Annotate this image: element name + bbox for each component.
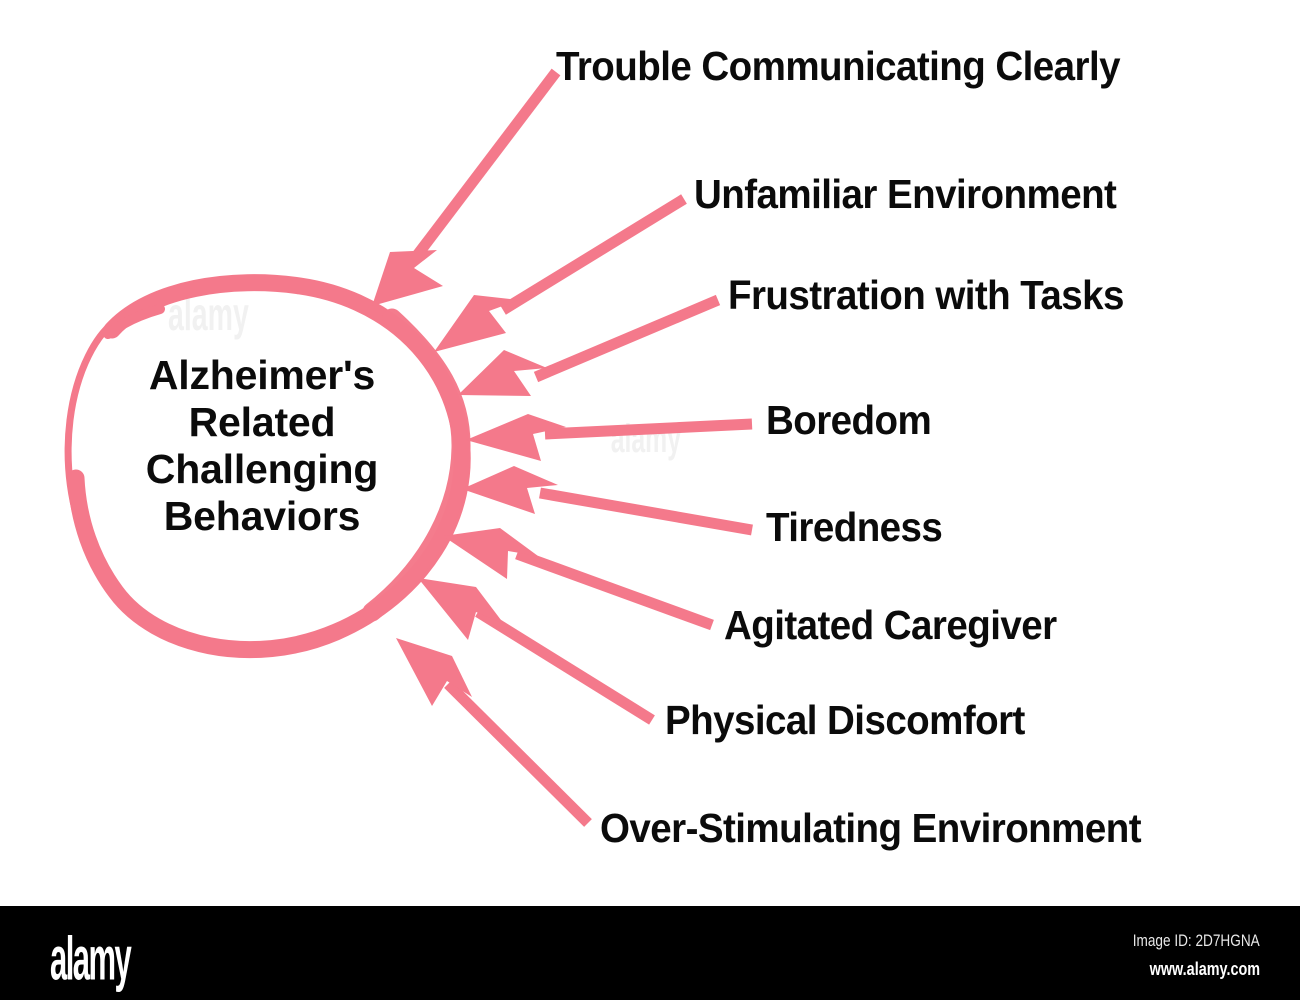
branch-label-agitated-caregiver[interactable]: Agitated Caregiver xyxy=(724,603,1057,647)
alamy-logo: alamy xyxy=(50,927,130,990)
diagram-vector-layer: alamy alamy xyxy=(0,0,1300,906)
branch-label-boredom[interactable]: Boredom xyxy=(766,398,931,442)
alamy-footer-bar: alamy Image ID: 2D7HGNA www.alamy.com xyxy=(0,906,1300,1000)
branch-label-frustration-with-tasks[interactable]: Frustration with Tasks xyxy=(728,273,1124,317)
screenshot-root: alamy alamy xyxy=(0,0,1300,1000)
alamy-url: www.alamy.com xyxy=(1150,959,1260,980)
branch-arrow-1 xyxy=(372,72,556,306)
branch-arrow-4 xyxy=(466,414,752,461)
center-node-circle xyxy=(68,283,462,650)
branch-label-physical-discomfort[interactable]: Physical Discomfort xyxy=(665,698,1025,742)
alamy-image-id: Image ID: 2D7HGNA xyxy=(1133,931,1260,951)
branch-label-unfamiliar-environment[interactable]: Unfamiliar Environment xyxy=(694,172,1116,216)
mind-map-diagram: alamy alamy xyxy=(0,0,1300,906)
branch-label-over-stimulating-environment[interactable]: Over-Stimulating Environment xyxy=(600,806,1141,850)
branch-label-tiredness[interactable]: Tiredness xyxy=(766,505,942,549)
branch-label-trouble-communicating-clearly[interactable]: Trouble Communicating Clearly xyxy=(556,44,1120,88)
branch-arrow-7 xyxy=(418,578,652,720)
branch-arrow-3 xyxy=(458,300,718,396)
branch-arrow-5 xyxy=(462,466,752,530)
